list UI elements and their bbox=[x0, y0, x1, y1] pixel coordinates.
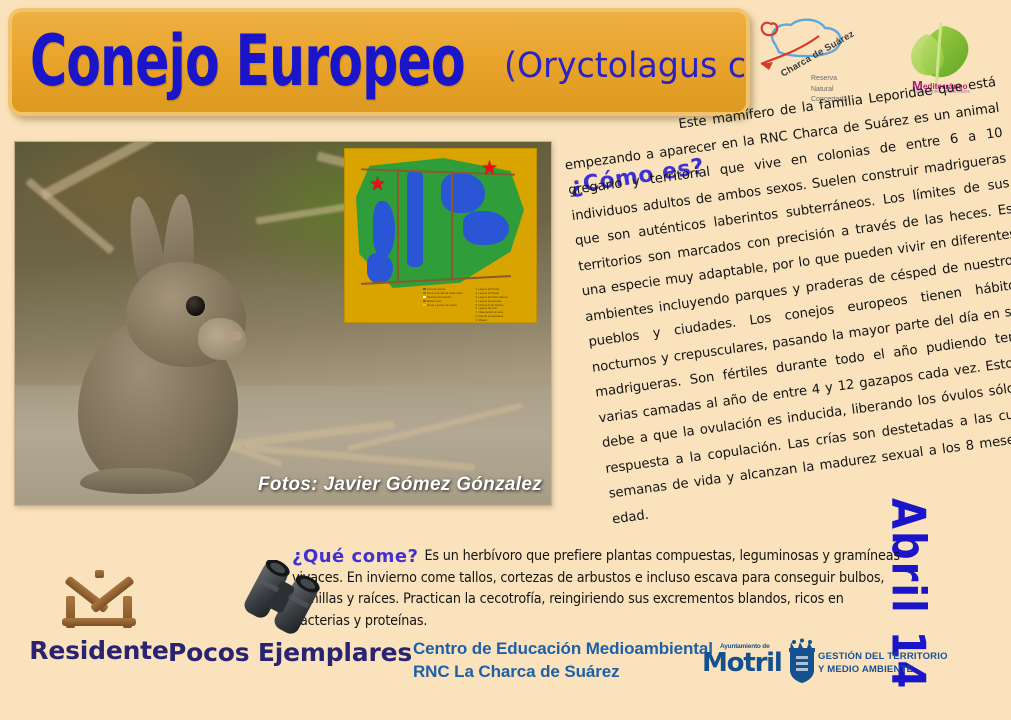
house-icon bbox=[58, 568, 140, 630]
charca-subtitle-line-1: Reserva bbox=[811, 74, 847, 85]
motril-logo: Ayuntamiento de Motril GESTIÓN DEL TERRI… bbox=[700, 640, 930, 692]
header-banner: Conejo Europeo (Oryctolagus cuniculus) bbox=[8, 8, 750, 116]
map-marker-star-2: ★ bbox=[481, 159, 498, 178]
legend-item: 9. Mirador bbox=[476, 319, 528, 323]
status-pocos-ejemplares: Pocos Ejemplares bbox=[168, 560, 394, 667]
motril-tagline: GESTIÓN DEL TERRITORIO Y MEDIO AMBIENTE bbox=[818, 650, 948, 676]
como-es-text: Este mamífero de la familia Leporidae qu… bbox=[560, 70, 1011, 532]
motril-wordmark: Motril bbox=[702, 648, 782, 678]
map-legend: Zona de acceso Zona a cerrado de observa… bbox=[423, 288, 531, 318]
centro-line-2: RNC La Charca de Suárez bbox=[413, 660, 713, 683]
motril-shield-icon bbox=[784, 638, 820, 684]
status-pocos-label: Pocos Ejemplares bbox=[168, 638, 394, 667]
poster-root: Conejo Europeo (Oryctolagus cuniculus) C… bbox=[0, 0, 1011, 720]
centro-educacion-block: Centro de Educación Medioambiental RNC L… bbox=[413, 637, 713, 683]
reserve-map-inset: ★ ★ Zona de acceso Zona a cerrado de obs… bbox=[344, 148, 537, 323]
map-marker-star-1: ★ bbox=[369, 175, 386, 194]
page-title: Conejo Europeo bbox=[30, 30, 465, 93]
map-legend-left-column: Zona de acceso Zona a cerrado de observa… bbox=[423, 288, 475, 307]
status-residente-label: Residente bbox=[14, 636, 184, 665]
centro-line-1: Centro de Educación Medioambiental bbox=[413, 637, 713, 660]
photo-credit: Fotos: Javier Gómez Gónzalez bbox=[258, 474, 542, 496]
map-legend-right-column: 1. Laguna del Trebol 2. Laguna del Taraj… bbox=[476, 288, 528, 323]
legend-item: Zonas y puntos de interés bbox=[423, 304, 475, 308]
como-es-section: ¿Cómo es? Este mamífero de la familia Le… bbox=[560, 70, 1011, 529]
status-residente: Residente bbox=[14, 568, 184, 665]
rabbit-photo: ★ ★ Zona de acceso Zona a cerrado de obs… bbox=[14, 141, 552, 506]
binoculars-icon bbox=[235, 560, 327, 636]
rabbit-subject bbox=[70, 200, 300, 490]
scientific-name: (Oryctolagus cuniculus) bbox=[504, 46, 751, 86]
motril-tagline-line-2: Y MEDIO AMBIENTE bbox=[818, 664, 913, 675]
motril-tagline-line-1: GESTIÓN DEL TERRITORIO bbox=[818, 651, 948, 662]
header-banner-inner: Conejo Europeo (Oryctolagus cuniculus) bbox=[12, 12, 746, 112]
